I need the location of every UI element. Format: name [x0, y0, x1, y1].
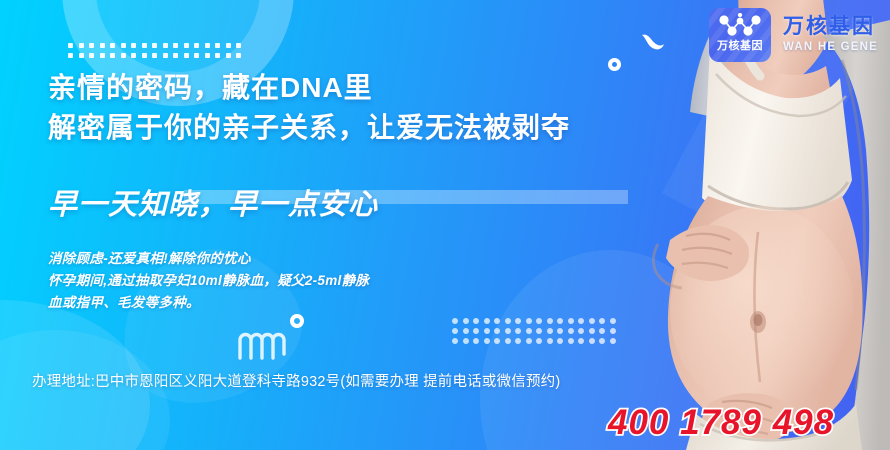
address-line: 办理地址:巴中市恩阳区义阳大道登科寺路932号(如需要办理 提前电话或微信预约)	[32, 370, 560, 391]
dna-molecule-icon	[717, 13, 763, 39]
logo-mark-label: 万核基因	[717, 41, 763, 52]
pregnant-woman-photo	[590, 0, 890, 450]
headline-line-2: 解密属于你的亲子关系，让爱无法被剥夺	[48, 108, 570, 148]
headline: 亲情的密码，藏在DNA里 解密属于你的亲子关系，让爱无法被剥夺	[48, 68, 570, 148]
brand-logo[interactable]: 万核基因 万核基因 WAN HE GENE	[709, 8, 878, 62]
wave-squiggle-icon	[236, 328, 288, 360]
logo-brand-cn: 万核基因	[783, 16, 878, 37]
ring-circle-icon	[290, 314, 304, 328]
body-copy-line-3: 血或指甲、毛发等多种。	[48, 292, 369, 314]
logo-brand-en: WAN HE GENE	[783, 42, 878, 54]
body-copy: 消除顾虑-还爱真相!解除你的忧心 怀孕期间,通过抽取孕妇10ml静脉血，疑父2-…	[48, 248, 369, 314]
logo-mark: 万核基因	[709, 8, 771, 62]
subheading: 早一天知晓，早一点安心	[48, 186, 378, 225]
body-copy-line-2: 怀孕期间,通过抽取孕妇10ml静脉血，疑父2-5ml静脉	[48, 270, 369, 292]
subheading-group: 早一天知晓，早一点安心	[48, 186, 608, 232]
headline-line-1: 亲情的密码，藏在DNA里	[48, 68, 570, 108]
logo-wordmark: 万核基因 WAN HE GENE	[783, 16, 878, 54]
promo-banner: 万核基因 万核基因 WAN HE GENE 亲情的密码，藏在DNA里 解密属于你…	[0, 0, 890, 450]
body-copy-line-1: 消除顾虑-还爱真相!解除你的忧心	[48, 248, 369, 270]
phone-number[interactable]: 400 1789 498	[608, 403, 834, 443]
